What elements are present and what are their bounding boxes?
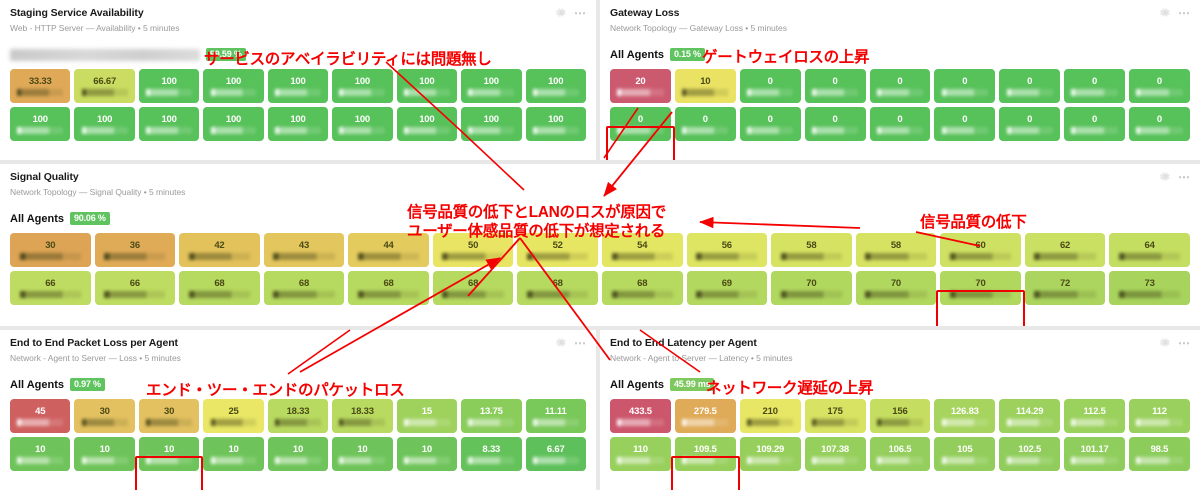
agent-tile[interactable]: 42 bbox=[179, 233, 260, 267]
redacted-agent-name bbox=[527, 291, 588, 298]
redacted-agent-name bbox=[617, 127, 663, 134]
redacted-agent-name bbox=[877, 127, 923, 134]
agent-tile[interactable]: 0 bbox=[805, 69, 866, 103]
tile-value: 70 bbox=[891, 278, 901, 289]
annotation-signal-quality-cause: 信号品質の低下とLANのロスが原因で ユーザー体感品質の低下が想定される bbox=[407, 203, 666, 241]
agent-tile[interactable]: 100 bbox=[332, 69, 392, 103]
gear-icon[interactable] bbox=[556, 337, 567, 348]
agent-tile[interactable]: 110 bbox=[610, 437, 671, 471]
tile-value: 100 bbox=[484, 114, 499, 125]
panel-actions: ⋯ bbox=[556, 337, 587, 348]
redacted-agent-name bbox=[211, 457, 257, 464]
redacted-agent-name bbox=[404, 127, 450, 134]
redacted-agent-name bbox=[146, 457, 192, 464]
redacted-agent-name bbox=[211, 419, 257, 426]
panel-header: End to End Latency per AgentNetwork - Ag… bbox=[600, 330, 1200, 364]
agent-tile[interactable]: 100 bbox=[203, 69, 263, 103]
annotation-end-to-end-packet-loss: エンド・ツー・エンドのパケットロス bbox=[146, 381, 404, 400]
agent-tile[interactable]: 0 bbox=[999, 69, 1060, 103]
agent-tile[interactable]: 175 bbox=[805, 399, 866, 433]
agent-tile[interactable]: 0 bbox=[740, 107, 801, 141]
redacted-agent-name bbox=[82, 419, 128, 426]
agent-tile[interactable]: 0 bbox=[934, 69, 995, 103]
tile-value: 58 bbox=[891, 240, 901, 251]
agent-tile[interactable]: 101.17 bbox=[1064, 437, 1125, 471]
redacted-agent-name bbox=[781, 253, 842, 260]
agent-tile[interactable]: 10 bbox=[268, 437, 328, 471]
agent-tile[interactable]: 30 bbox=[10, 233, 91, 267]
agent-tile[interactable]: 0 bbox=[610, 107, 671, 141]
agent-tile[interactable]: 73 bbox=[1109, 271, 1190, 305]
redacted-agent-name bbox=[146, 89, 192, 96]
agent-tile[interactable]: 126.83 bbox=[934, 399, 995, 433]
agent-tile[interactable]: 0 bbox=[1064, 107, 1125, 141]
tile-value: 54 bbox=[637, 240, 647, 251]
redacted-agent-name bbox=[1136, 89, 1182, 96]
redacted-agent-name bbox=[17, 419, 63, 426]
agent-tile[interactable]: 106.5 bbox=[870, 437, 931, 471]
agent-tile[interactable]: 100 bbox=[139, 69, 199, 103]
agent-tile[interactable]: 36 bbox=[95, 233, 176, 267]
agent-tile[interactable]: 56 bbox=[687, 233, 768, 267]
redacted-agent-name bbox=[211, 127, 257, 134]
agent-tile[interactable]: 70 bbox=[771, 271, 852, 305]
status-badge: 90.06 % bbox=[70, 212, 110, 225]
tile-value: 100 bbox=[161, 114, 176, 125]
agent-tile[interactable]: 68 bbox=[264, 271, 345, 305]
ellipsis-icon[interactable]: ⋯ bbox=[1178, 339, 1191, 347]
agent-tile[interactable]: 70 bbox=[940, 271, 1021, 305]
agent-tile[interactable]: 100 bbox=[10, 107, 70, 141]
ellipsis-icon[interactable]: ⋯ bbox=[1178, 9, 1191, 17]
redacted-agent-name bbox=[617, 419, 663, 426]
redacted-agent-name bbox=[442, 291, 503, 298]
redacted-agent-name bbox=[1071, 457, 1117, 464]
redacted-agent-name bbox=[275, 419, 321, 426]
tile-value: 210 bbox=[763, 406, 778, 417]
agent-tile[interactable]: 25 bbox=[203, 399, 263, 433]
agent-tile[interactable]: 11.11 bbox=[526, 399, 586, 433]
agent-tile-grid: 433.5279.5210175156126.83114.29112.51121… bbox=[600, 391, 1200, 481]
tile-value: 8.33 bbox=[482, 444, 500, 455]
redacted-agent-name bbox=[533, 419, 579, 426]
redacted-agent-name bbox=[404, 89, 450, 96]
tile-value: 279.5 bbox=[694, 406, 717, 417]
tile-value: 110 bbox=[633, 444, 648, 455]
tile-value: 100 bbox=[290, 114, 305, 125]
tile-value: 68 bbox=[214, 278, 224, 289]
agent-tile[interactable]: 433.5 bbox=[610, 399, 671, 433]
tile-value: 68 bbox=[383, 278, 393, 289]
tile-value: 0 bbox=[962, 114, 967, 125]
summary-row: All Agents0.15 % bbox=[600, 48, 1200, 61]
annotation-availability-ok: サービスのアベイラビリティには問題無し bbox=[204, 50, 492, 69]
agent-tile[interactable]: 10 bbox=[675, 69, 736, 103]
ellipsis-icon[interactable]: ⋯ bbox=[574, 9, 587, 17]
tile-value: 98.5 bbox=[1151, 444, 1169, 455]
agent-tile[interactable]: 70 bbox=[856, 271, 937, 305]
tile-value: 0 bbox=[962, 76, 967, 87]
redacted-agent-name bbox=[404, 419, 450, 426]
tile-value: 30 bbox=[100, 406, 110, 417]
tile-value: 100 bbox=[548, 114, 563, 125]
tile-value: 0 bbox=[1092, 76, 1097, 87]
redacted-agent-name bbox=[275, 127, 321, 134]
panel-actions: ⋯ bbox=[1160, 337, 1191, 348]
tile-value: 100 bbox=[419, 114, 434, 125]
tile-value: 156 bbox=[892, 406, 907, 417]
redacted-agent-name bbox=[682, 89, 728, 96]
agent-tile[interactable]: 10 bbox=[74, 437, 134, 471]
agent-tile[interactable]: 58 bbox=[771, 233, 852, 267]
agent-tile[interactable]: 15 bbox=[397, 399, 457, 433]
tile-value: 0 bbox=[833, 114, 838, 125]
tile-value: 50 bbox=[468, 240, 478, 251]
redacted-agent-name bbox=[612, 253, 673, 260]
agent-tile[interactable]: 66 bbox=[95, 271, 176, 305]
tile-value: 100 bbox=[355, 76, 370, 87]
agent-tile[interactable]: 156 bbox=[870, 399, 931, 433]
agent-tile[interactable]: 0 bbox=[805, 107, 866, 141]
redacted-agent-name bbox=[696, 253, 757, 260]
tile-value: 18.33 bbox=[351, 406, 374, 417]
agent-tile[interactable]: 100 bbox=[332, 107, 392, 141]
tile-value: 52 bbox=[553, 240, 563, 251]
redacted-agent-name bbox=[82, 89, 128, 96]
tile-value: 10 bbox=[357, 444, 367, 455]
agent-tile[interactable]: 0 bbox=[1129, 69, 1190, 103]
agent-tile[interactable]: 18.33 bbox=[268, 399, 328, 433]
agent-tile-grid: 20100000000000000000 bbox=[600, 61, 1200, 151]
redacted-agent-name bbox=[812, 127, 858, 134]
redacted-agent-name bbox=[533, 457, 579, 464]
panel-header: Gateway LossNetwork Topology — Gateway L… bbox=[600, 0, 1200, 34]
agent-tile[interactable]: 68 bbox=[433, 271, 514, 305]
redacted-agent-name bbox=[339, 127, 385, 134]
agent-tile[interactable]: 30 bbox=[74, 399, 134, 433]
status-badge: 0.15 % bbox=[670, 48, 705, 61]
panel-title: Signal Quality bbox=[10, 171, 1190, 184]
agent-tile[interactable]: 45 bbox=[10, 399, 70, 433]
panel-end-to-end-latency-per-agent: End to End Latency per AgentNetwork - Ag… bbox=[600, 330, 1200, 490]
agent-tile[interactable]: 58 bbox=[856, 233, 937, 267]
tile-value: 33.33 bbox=[29, 76, 52, 87]
tile-value: 68 bbox=[299, 278, 309, 289]
redacted-agent-name bbox=[747, 457, 793, 464]
agent-tile[interactable]: 20 bbox=[610, 69, 671, 103]
agent-tile[interactable]: 33.33 bbox=[10, 69, 70, 103]
redacted-agent-name bbox=[17, 89, 63, 96]
tile-value: 11.11 bbox=[545, 406, 567, 417]
tile-value: 70 bbox=[975, 278, 985, 289]
redacted-agent-name bbox=[189, 253, 250, 260]
gear-icon[interactable] bbox=[1160, 7, 1171, 18]
redacted-agent-name bbox=[1119, 291, 1180, 298]
agent-tile[interactable]: 62 bbox=[1025, 233, 1106, 267]
agent-tile[interactable]: 100 bbox=[526, 69, 586, 103]
agent-tile[interactable]: 112 bbox=[1129, 399, 1190, 433]
redacted-agent-name bbox=[273, 291, 334, 298]
redacted-agent-name bbox=[1071, 419, 1117, 426]
tile-value: 0 bbox=[768, 114, 773, 125]
redacted-agent-name bbox=[104, 253, 165, 260]
tile-value: 6.67 bbox=[547, 444, 565, 455]
redacted-agent-name bbox=[339, 89, 385, 96]
redacted-agent-name bbox=[273, 253, 334, 260]
ellipsis-icon[interactable]: ⋯ bbox=[574, 339, 587, 347]
tile-value: 66 bbox=[45, 278, 55, 289]
agent-tile[interactable]: 43 bbox=[264, 233, 345, 267]
redacted-agent-name bbox=[404, 457, 450, 464]
agent-tile[interactable]: 114.29 bbox=[999, 399, 1060, 433]
panel-subtitle: Network - Agent to Server — Loss • 5 min… bbox=[10, 353, 586, 364]
tile-value: 0 bbox=[1027, 76, 1032, 87]
agent-tile[interactable]: 100 bbox=[397, 69, 457, 103]
redacted-agent-name bbox=[358, 291, 419, 298]
tile-value: 72 bbox=[1060, 278, 1070, 289]
agent-tile[interactable]: 107.38 bbox=[805, 437, 866, 471]
tile-value: 15 bbox=[422, 406, 432, 417]
agent-tile[interactable]: 68 bbox=[517, 271, 598, 305]
tile-value: 10 bbox=[422, 444, 432, 455]
agent-tile-grid: 4530302518.3318.331513.7511.111010101010… bbox=[0, 391, 596, 481]
redacted-agent-name bbox=[747, 89, 793, 96]
tile-value: 0 bbox=[1027, 114, 1032, 125]
tile-value: 433.5 bbox=[629, 406, 652, 417]
agent-tile[interactable]: 66.67 bbox=[74, 69, 134, 103]
agent-tile[interactable]: 0 bbox=[740, 69, 801, 103]
redacted-agent-name bbox=[1136, 127, 1182, 134]
panel-signal-quality: Signal QualityNetwork Topology — Signal … bbox=[0, 164, 1200, 326]
redacted-agent-name bbox=[468, 457, 514, 464]
tile-value: 102.5 bbox=[1018, 444, 1041, 455]
redacted-agent-name bbox=[146, 419, 192, 426]
tile-value: 42 bbox=[214, 240, 224, 251]
redacted-agent-name bbox=[877, 89, 923, 96]
redacted-agent-name bbox=[747, 127, 793, 134]
agent-tile[interactable]: 64 bbox=[1109, 233, 1190, 267]
tile-value: 68 bbox=[468, 278, 478, 289]
agent-tile[interactable]: 10 bbox=[10, 437, 70, 471]
panel-title: End to End Latency per Agent bbox=[610, 337, 1190, 350]
redacted-agent-name bbox=[275, 457, 321, 464]
redacted-agent-name bbox=[877, 419, 923, 426]
redacted-agent-name bbox=[950, 253, 1011, 260]
tile-value: 114.29 bbox=[1016, 406, 1043, 417]
agent-tile[interactable]: 210 bbox=[740, 399, 801, 433]
redacted-agent-name bbox=[877, 457, 923, 464]
tile-value: 100 bbox=[97, 114, 112, 125]
tile-value: 100 bbox=[290, 76, 305, 87]
agent-tile[interactable]: 102.5 bbox=[999, 437, 1060, 471]
gear-icon[interactable] bbox=[556, 7, 567, 18]
redacted-agent-name bbox=[1007, 127, 1053, 134]
agent-tile[interactable]: 0 bbox=[1129, 107, 1190, 141]
agent-tile[interactable]: 8.33 bbox=[461, 437, 521, 471]
redacted-agent-name bbox=[468, 127, 514, 134]
agent-tile[interactable]: 105 bbox=[934, 437, 995, 471]
tile-value: 175 bbox=[827, 406, 842, 417]
annotation-network-latency-rise: ネットワーク遅延の上昇 bbox=[706, 379, 873, 398]
agent-tile[interactable]: 100 bbox=[74, 107, 134, 141]
redacted-agent-name bbox=[942, 127, 988, 134]
redacted-agent-name bbox=[812, 457, 858, 464]
tile-value: 10 bbox=[293, 444, 303, 455]
redacted-agent-name bbox=[533, 89, 579, 96]
tile-value: 10 bbox=[35, 444, 45, 455]
tile-value: 10 bbox=[700, 76, 710, 87]
redacted-agent-name bbox=[82, 457, 128, 464]
gear-icon[interactable] bbox=[1160, 337, 1171, 348]
tile-value: 100 bbox=[484, 76, 499, 87]
tile-value: 100 bbox=[355, 114, 370, 125]
agent-tile[interactable]: 68 bbox=[348, 271, 429, 305]
agent-tile[interactable]: 109.5 bbox=[675, 437, 736, 471]
panel-staging-service-availability: Staging Service AvailabilityWeb - HTTP S… bbox=[0, 0, 596, 160]
tile-value: 30 bbox=[164, 406, 174, 417]
tile-value: 112 bbox=[1152, 406, 1167, 417]
agent-tile[interactable]: 0 bbox=[870, 69, 931, 103]
agent-tile[interactable]: 279.5 bbox=[675, 399, 736, 433]
agent-tile[interactable]: 100 bbox=[139, 107, 199, 141]
tile-value: 100 bbox=[226, 76, 241, 87]
agent-tile[interactable]: 66 bbox=[10, 271, 91, 305]
all-agents-label: All Agents bbox=[610, 49, 664, 61]
tile-value: 73 bbox=[1145, 278, 1155, 289]
agent-tile[interactable]: 100 bbox=[461, 69, 521, 103]
tile-value: 62 bbox=[1060, 240, 1070, 251]
annotation-signal-quality-drop: 信号品質の低下 bbox=[920, 213, 1026, 232]
redacted-agent-name bbox=[865, 253, 926, 260]
redacted-agent-name bbox=[275, 89, 321, 96]
agent-tile[interactable]: 13.75 bbox=[461, 399, 521, 433]
agent-tile[interactable]: 112.5 bbox=[1064, 399, 1125, 433]
redacted-agent-name bbox=[812, 89, 858, 96]
redacted-agent-name bbox=[1136, 457, 1182, 464]
agent-tile[interactable]: 0 bbox=[870, 107, 931, 141]
agent-tile[interactable]: 100 bbox=[268, 69, 328, 103]
panel-actions: ⋯ bbox=[556, 7, 587, 18]
agent-tile[interactable]: 68 bbox=[602, 271, 683, 305]
tile-value: 66.67 bbox=[93, 76, 116, 87]
agent-tile[interactable]: 18.33 bbox=[332, 399, 392, 433]
redacted-agent-name bbox=[747, 419, 793, 426]
redacted-agent-name bbox=[1007, 457, 1053, 464]
redacted-agent-name bbox=[781, 291, 842, 298]
tile-value: 66 bbox=[130, 278, 140, 289]
redacted-agent-name bbox=[339, 457, 385, 464]
agent-tile[interactable]: 60 bbox=[940, 233, 1021, 267]
gear-icon[interactable] bbox=[1160, 171, 1171, 182]
redacted-agent-name bbox=[20, 291, 81, 298]
agent-tile[interactable]: 69 bbox=[687, 271, 768, 305]
tile-value: 30 bbox=[45, 240, 55, 251]
agent-tile[interactable]: 6.67 bbox=[526, 437, 586, 471]
redacted-agent-name bbox=[1007, 89, 1053, 96]
redacted-agent-name bbox=[612, 291, 673, 298]
agent-tile[interactable]: 0 bbox=[1064, 69, 1125, 103]
tile-value: 10 bbox=[164, 444, 174, 455]
redacted-agent-name bbox=[146, 127, 192, 134]
agent-tile[interactable]: 100 bbox=[397, 107, 457, 141]
tile-value: 56 bbox=[722, 240, 732, 251]
redacted-agent-name bbox=[617, 89, 663, 96]
agent-tile[interactable]: 100 bbox=[526, 107, 586, 141]
tile-value: 44 bbox=[383, 240, 393, 251]
tile-value: 105 bbox=[957, 444, 972, 455]
agent-tile[interactable]: 0 bbox=[675, 107, 736, 141]
agent-tile[interactable]: 68 bbox=[179, 271, 260, 305]
tile-value: 107.38 bbox=[821, 444, 849, 455]
agent-tile[interactable]: 0 bbox=[934, 107, 995, 141]
tile-value: 112.5 bbox=[1083, 406, 1105, 417]
annotation-gateway-loss-rise: ゲートウェイロスの上昇 bbox=[702, 48, 869, 67]
agent-tile[interactable]: 0 bbox=[999, 107, 1060, 141]
redacted-agent-name bbox=[211, 89, 257, 96]
agent-tile[interactable]: 72 bbox=[1025, 271, 1106, 305]
redacted-agent-name bbox=[812, 419, 858, 426]
agent-tile[interactable]: 10 bbox=[203, 437, 263, 471]
agent-tile[interactable]: 109.29 bbox=[740, 437, 801, 471]
agent-tile[interactable]: 10 bbox=[332, 437, 392, 471]
tile-value: 126.83 bbox=[951, 406, 979, 417]
redacted-agent-name bbox=[617, 457, 663, 464]
tile-value: 13.75 bbox=[480, 406, 503, 417]
all-agents-label: All Agents bbox=[10, 213, 64, 225]
redacted-agent-name bbox=[1034, 253, 1095, 260]
panel-actions: ⋯ bbox=[1160, 171, 1191, 182]
agent-tile[interactable]: 98.5 bbox=[1129, 437, 1190, 471]
redacted-agent-name bbox=[82, 127, 128, 134]
redacted-agent-name bbox=[1034, 291, 1095, 298]
summary-row: All Agents45.99 ms bbox=[600, 378, 1200, 391]
agent-tile[interactable]: 100 bbox=[461, 107, 521, 141]
tile-value: 43 bbox=[299, 240, 309, 251]
redacted-agent-name bbox=[533, 127, 579, 134]
redacted-agent-name bbox=[468, 89, 514, 96]
redacted-agent-name bbox=[1119, 253, 1180, 260]
tile-value: 58 bbox=[806, 240, 816, 251]
agent-tile[interactable]: 10 bbox=[139, 437, 199, 471]
agent-tile[interactable]: 100 bbox=[203, 107, 263, 141]
ellipsis-icon[interactable]: ⋯ bbox=[1178, 173, 1191, 181]
tile-value: 64 bbox=[1145, 240, 1155, 251]
tile-value: 0 bbox=[897, 76, 902, 87]
agent-tile[interactable]: 100 bbox=[268, 107, 328, 141]
tile-value: 100 bbox=[161, 76, 176, 87]
redacted-agent-name bbox=[950, 291, 1011, 298]
redacted-agent-name bbox=[942, 457, 988, 464]
tile-value: 109.5 bbox=[694, 444, 717, 455]
agent-tile[interactable]: 30 bbox=[139, 399, 199, 433]
tile-value: 10 bbox=[228, 444, 238, 455]
all-agents-label: All Agents bbox=[610, 379, 664, 391]
redacted-agent-name bbox=[17, 457, 63, 464]
tile-value: 100 bbox=[548, 76, 563, 87]
agent-tile[interactable]: 10 bbox=[397, 437, 457, 471]
panel-actions: ⋯ bbox=[1160, 7, 1191, 18]
panel-title: Gateway Loss bbox=[610, 7, 1190, 20]
redacted-agent-name bbox=[527, 253, 588, 260]
redacted-agent-name bbox=[942, 419, 988, 426]
tile-value: 0 bbox=[1157, 114, 1162, 125]
redacted-agent-name bbox=[20, 253, 81, 260]
redacted-agent-name bbox=[696, 291, 757, 298]
tile-value: 45 bbox=[35, 406, 45, 417]
redacted-agent-name bbox=[1007, 419, 1053, 426]
tile-value: 0 bbox=[768, 76, 773, 87]
redacted-agent-name bbox=[17, 127, 63, 134]
